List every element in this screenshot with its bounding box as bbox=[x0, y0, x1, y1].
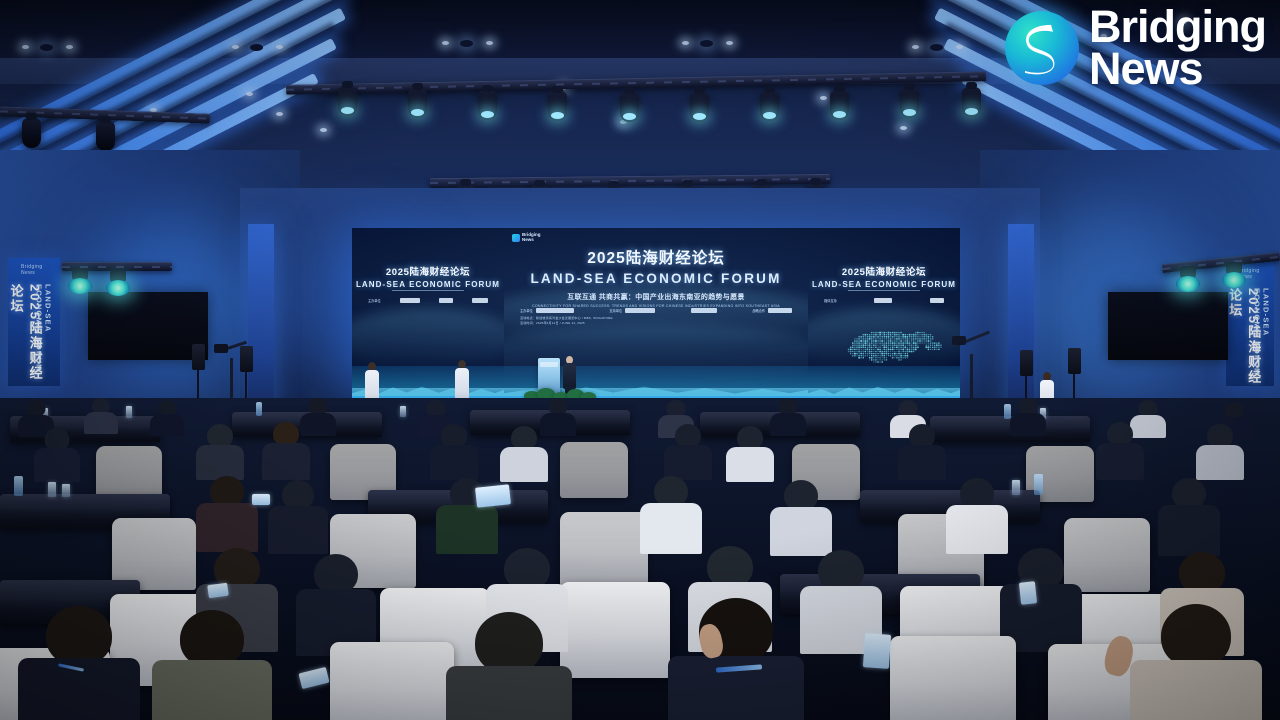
audience-person bbox=[770, 480, 832, 556]
moving-head-light bbox=[478, 90, 497, 120]
moving-head-light bbox=[548, 91, 567, 121]
moving-head-light bbox=[22, 118, 41, 148]
moving-head-light bbox=[690, 92, 709, 122]
sponsor-label-1: 主办单位 bbox=[520, 308, 533, 313]
moving-head-light bbox=[760, 91, 779, 121]
pillar-right bbox=[1008, 224, 1034, 414]
forum-subtitle-cn: 互联互通 共商共赢：中国产业出海东南亚的趋势与愿景 bbox=[504, 292, 808, 302]
pa-speaker-right bbox=[1068, 348, 1081, 374]
audience-person bbox=[296, 554, 376, 656]
sponsor-label-2: 支持单位 bbox=[609, 308, 622, 313]
pa-speaker-right-2 bbox=[1020, 350, 1033, 376]
screen-right-title-block: 2025陆海财经论坛 LAND-SEA ECONOMIC FORUM bbox=[808, 264, 960, 289]
audience-person-foreground bbox=[152, 610, 272, 720]
audience-person bbox=[150, 400, 184, 436]
screen-right-title-cn: 2025陆海财经论坛 bbox=[808, 264, 960, 278]
chair bbox=[890, 636, 1016, 720]
screen-logo-line2: News bbox=[522, 237, 534, 242]
screen-left-title-block: 2025陆海财经论坛 LAND-SEA ECONOMIC FORUM bbox=[352, 264, 504, 289]
audience-person bbox=[1196, 424, 1244, 480]
vertical-banner-left: Bridging News 2025陆海财经论坛 LAND-SEA ECONOM… bbox=[8, 258, 60, 386]
sponsor-label-3: 战略合作 bbox=[752, 308, 765, 313]
audience-person bbox=[946, 478, 1008, 554]
forum-title-en: LAND-SEA ECONOMIC FORUM bbox=[504, 271, 808, 286]
watermark-line-1: Bridging bbox=[1089, 6, 1266, 48]
moving-head-light bbox=[408, 88, 427, 118]
audience-area bbox=[0, 398, 1280, 720]
audience-person bbox=[430, 424, 478, 480]
audience-person bbox=[664, 424, 712, 480]
host-right bbox=[455, 360, 469, 402]
audience-person bbox=[726, 426, 774, 482]
audience-person bbox=[34, 428, 80, 482]
conference-hall-photo: Bridging News 2025陆海财经论坛 LAND-SEA ECONOM… bbox=[0, 0, 1280, 720]
screen-left-sponsor-label: 主办单位 bbox=[368, 298, 381, 303]
audience-person bbox=[1010, 398, 1046, 436]
chair bbox=[560, 582, 670, 678]
laptop-screen bbox=[475, 484, 511, 507]
moving-head-light bbox=[96, 121, 115, 151]
screen-right-sponsor-label: 媒体支持 bbox=[824, 298, 837, 303]
moving-head-light bbox=[830, 90, 849, 120]
audience-person-foreground bbox=[446, 612, 572, 720]
audience-person bbox=[268, 480, 328, 554]
audience-person bbox=[196, 476, 258, 552]
chair bbox=[330, 642, 454, 720]
phone-screen bbox=[252, 494, 270, 505]
par-light-right-2 bbox=[1222, 272, 1246, 288]
bridging-news-mark-icon bbox=[512, 234, 520, 242]
moving-head-light bbox=[620, 92, 639, 122]
phone-screen bbox=[207, 583, 229, 599]
phone-screen bbox=[1019, 581, 1037, 605]
audience-person-foreground bbox=[1130, 604, 1262, 720]
banner-title-en-right: LAND-SEA ECONOMIC FORUM bbox=[1253, 288, 1271, 386]
banner-title-en-left: LAND-SEA ECONOMIC FORUM bbox=[34, 284, 52, 386]
moving-head-light bbox=[900, 88, 919, 118]
audience-person bbox=[84, 398, 118, 434]
bridging-news-swoosh-logo bbox=[1005, 11, 1079, 85]
chair bbox=[560, 442, 628, 498]
audience-person bbox=[262, 422, 310, 480]
watermark-line-2: News bbox=[1089, 48, 1266, 90]
par-light-left-2 bbox=[106, 280, 130, 296]
camera-rig-left bbox=[214, 336, 258, 406]
screen-sponsor-strip: 主办单位 支持单位 战略合作 活动地点：新加坡滨海湾金沙会议 bbox=[504, 308, 808, 325]
pa-speaker-left bbox=[192, 344, 205, 370]
screen-left-title-en: LAND-SEA ECONOMIC FORUM bbox=[352, 280, 504, 289]
audience-person bbox=[640, 476, 702, 554]
chair bbox=[560, 512, 648, 586]
screen-center-title-block: 2025陆海财经论坛 LAND-SEA ECONOMIC FORUM 互联互通 … bbox=[504, 246, 808, 308]
par-light-right-1 bbox=[1176, 276, 1200, 292]
stage-panel-right bbox=[1108, 292, 1228, 360]
forum-title-cn: 2025陆海财经论坛 bbox=[504, 246, 808, 268]
audience-person bbox=[770, 398, 806, 436]
audience-person-foreground bbox=[668, 598, 804, 720]
audience-person bbox=[1158, 478, 1220, 556]
audience-person bbox=[500, 426, 548, 482]
screen-left-title-cn: 2025陆海财经论坛 bbox=[352, 264, 504, 278]
phone-screen bbox=[863, 633, 891, 669]
watermark-text: Bridging News bbox=[1089, 6, 1266, 90]
audience-person bbox=[1096, 422, 1144, 480]
led-video-wall: 2025陆海财经论坛 LAND-SEA ECONOMIC FORUM 主办单位 bbox=[352, 228, 960, 400]
bridging-news-watermark: Bridging News bbox=[1005, 6, 1266, 90]
screen-bridging-news-logo: Bridging News bbox=[512, 233, 541, 242]
screen-right-title-en: LAND-SEA ECONOMIC FORUM bbox=[808, 280, 960, 289]
audience-person bbox=[1000, 548, 1082, 652]
moving-head-light bbox=[962, 87, 981, 117]
audience-person-foreground bbox=[18, 606, 140, 720]
banner-logo-left: Bridging News bbox=[21, 264, 47, 276]
moving-head-light bbox=[338, 86, 357, 116]
par-light-left-1 bbox=[68, 278, 92, 294]
venue-note: 活动地点：新加坡滨海湾金沙会议展览中心 / MBS, SINGAPORE bbox=[520, 316, 792, 320]
dotted-southeast-asia-map: {} bbox=[834, 318, 954, 376]
audience-person bbox=[196, 424, 244, 480]
date-note: 活动时间：2025年6月12日 / JUNE 12, 2025 bbox=[520, 321, 792, 325]
stage-panel-left bbox=[88, 292, 208, 360]
audience-person bbox=[898, 424, 946, 480]
